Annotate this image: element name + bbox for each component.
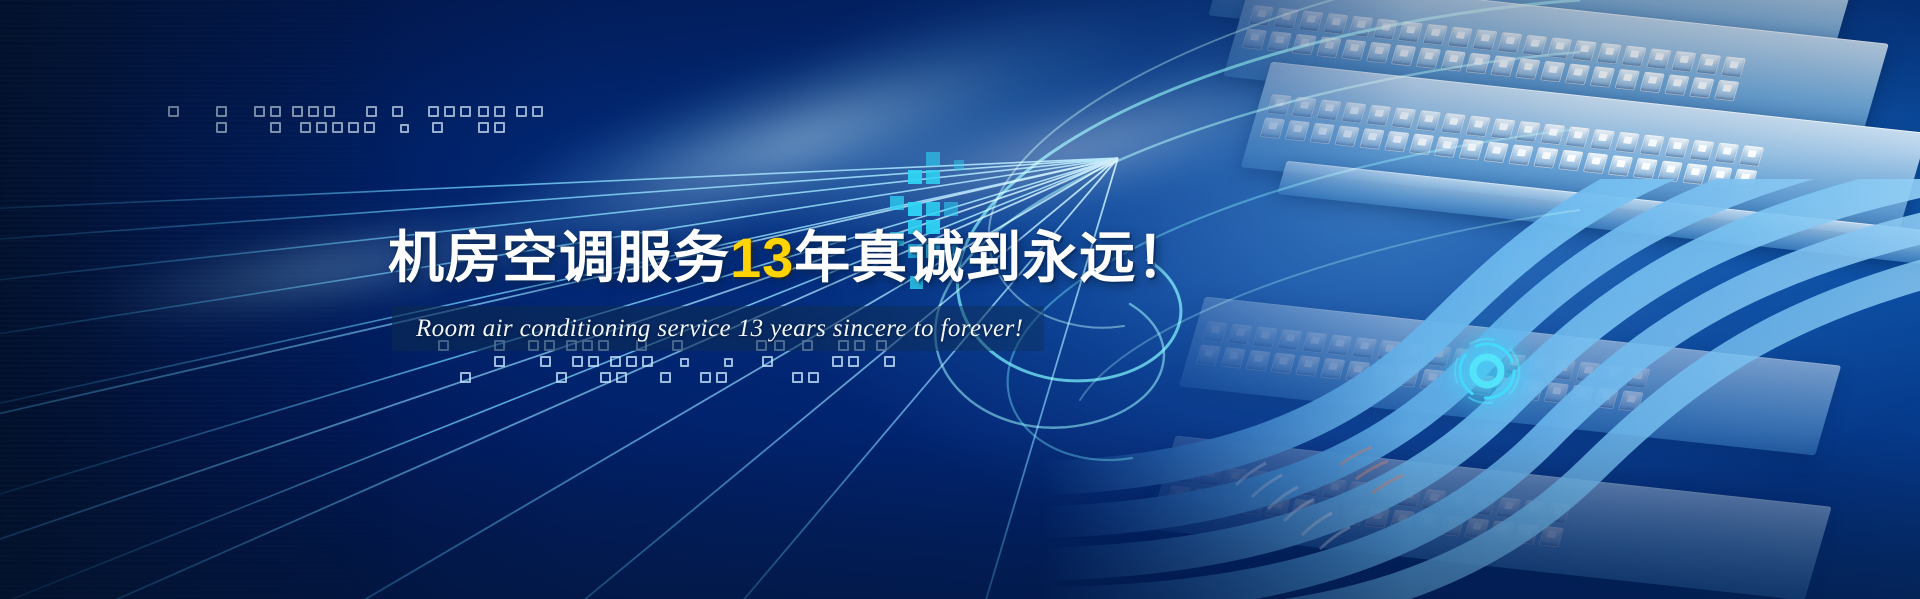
server-switch-rack — [1040, 0, 1920, 599]
headline-year-number: 13 — [730, 226, 794, 289]
banner-subtitle: Room air conditioning service 13 years s… — [416, 306, 1023, 351]
headline-prefix: 机房空调服务 — [388, 226, 730, 289]
perspective-grid — [0, 150, 1150, 599]
motion-blur-streaks — [0, 0, 420, 599]
network-cable-bundle — [1040, 179, 1920, 599]
light-sweep-left — [0, 62, 719, 477]
banner-text-block: 机房空调服务13年真诚到永远！ Room air conditioning se… — [0, 0, 1100, 599]
hollow-square-pattern-top — [0, 0, 600, 160]
cyan-mosaic-squares — [890, 140, 1040, 300]
hero-banner: 机房空调服务13年真诚到永远！ Room air conditioning se… — [0, 0, 1920, 599]
hollow-square-pattern-bottom — [0, 0, 920, 420]
subtitle-backdrop-bar — [392, 306, 1044, 351]
